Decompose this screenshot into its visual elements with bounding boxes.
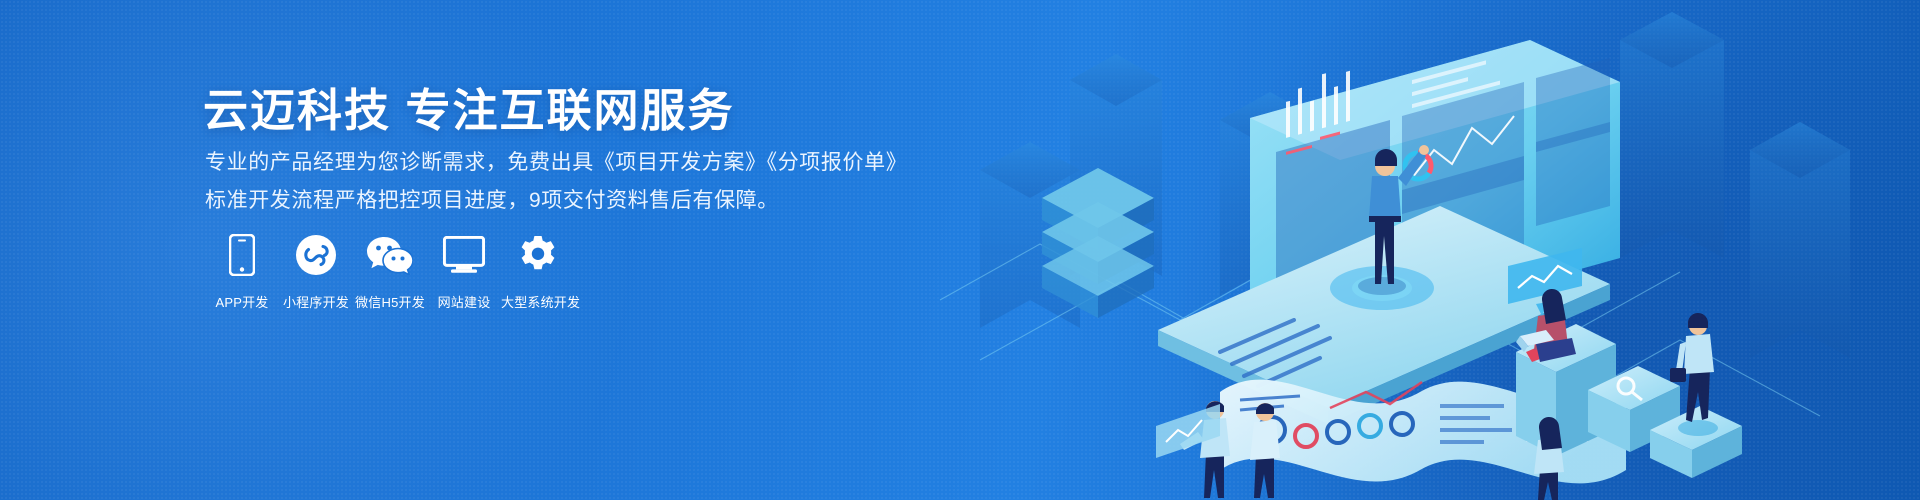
service-label: 网站建设 bbox=[427, 292, 501, 311]
subtitle-line-2: 标准开发流程严格把控项目进度，9项交付资料售后有保障。 bbox=[205, 184, 779, 214]
service-item-app[interactable]: APP开发 bbox=[205, 232, 279, 311]
service-label: 小程序开发 bbox=[279, 292, 353, 311]
subtitle-line-1: 专业的产品经理为您诊断需求，免费出具《项目开发方案》《分项报价单》 bbox=[205, 146, 907, 176]
gear-icon bbox=[501, 232, 575, 278]
service-label: APP开发 bbox=[205, 292, 279, 311]
service-item-miniprogram[interactable]: 小程序开发 bbox=[279, 232, 353, 311]
hero-banner: 云迈科技 专注互联网服务 专业的产品经理为您诊断需求，免费出具《项目开发方案》《… bbox=[0, 0, 1920, 500]
mini-program-icon bbox=[279, 232, 353, 278]
server-tower bbox=[1042, 168, 1154, 318]
monitor-icon bbox=[427, 232, 501, 278]
service-item-website[interactable]: 网站建设 bbox=[427, 232, 501, 311]
service-label: 微信H5开发 bbox=[353, 292, 427, 311]
banner-content: 云迈科技 专注互联网服务 专业的产品经理为您诊断需求，免费出具《项目开发方案》《… bbox=[203, 0, 963, 500]
page-title: 云迈科技 专注互联网服务 bbox=[203, 74, 735, 139]
service-item-wechat[interactable]: 微信H5开发 bbox=[353, 232, 427, 311]
wechat-icon bbox=[353, 232, 427, 278]
service-list: APP开发 小程序开发 bbox=[205, 232, 575, 311]
service-label: 大型系统开发 bbox=[501, 292, 575, 311]
service-item-large-system[interactable]: 大型系统开发 bbox=[501, 232, 575, 311]
mobile-phone-icon bbox=[205, 232, 279, 278]
isometric-illustration bbox=[920, 0, 1920, 500]
